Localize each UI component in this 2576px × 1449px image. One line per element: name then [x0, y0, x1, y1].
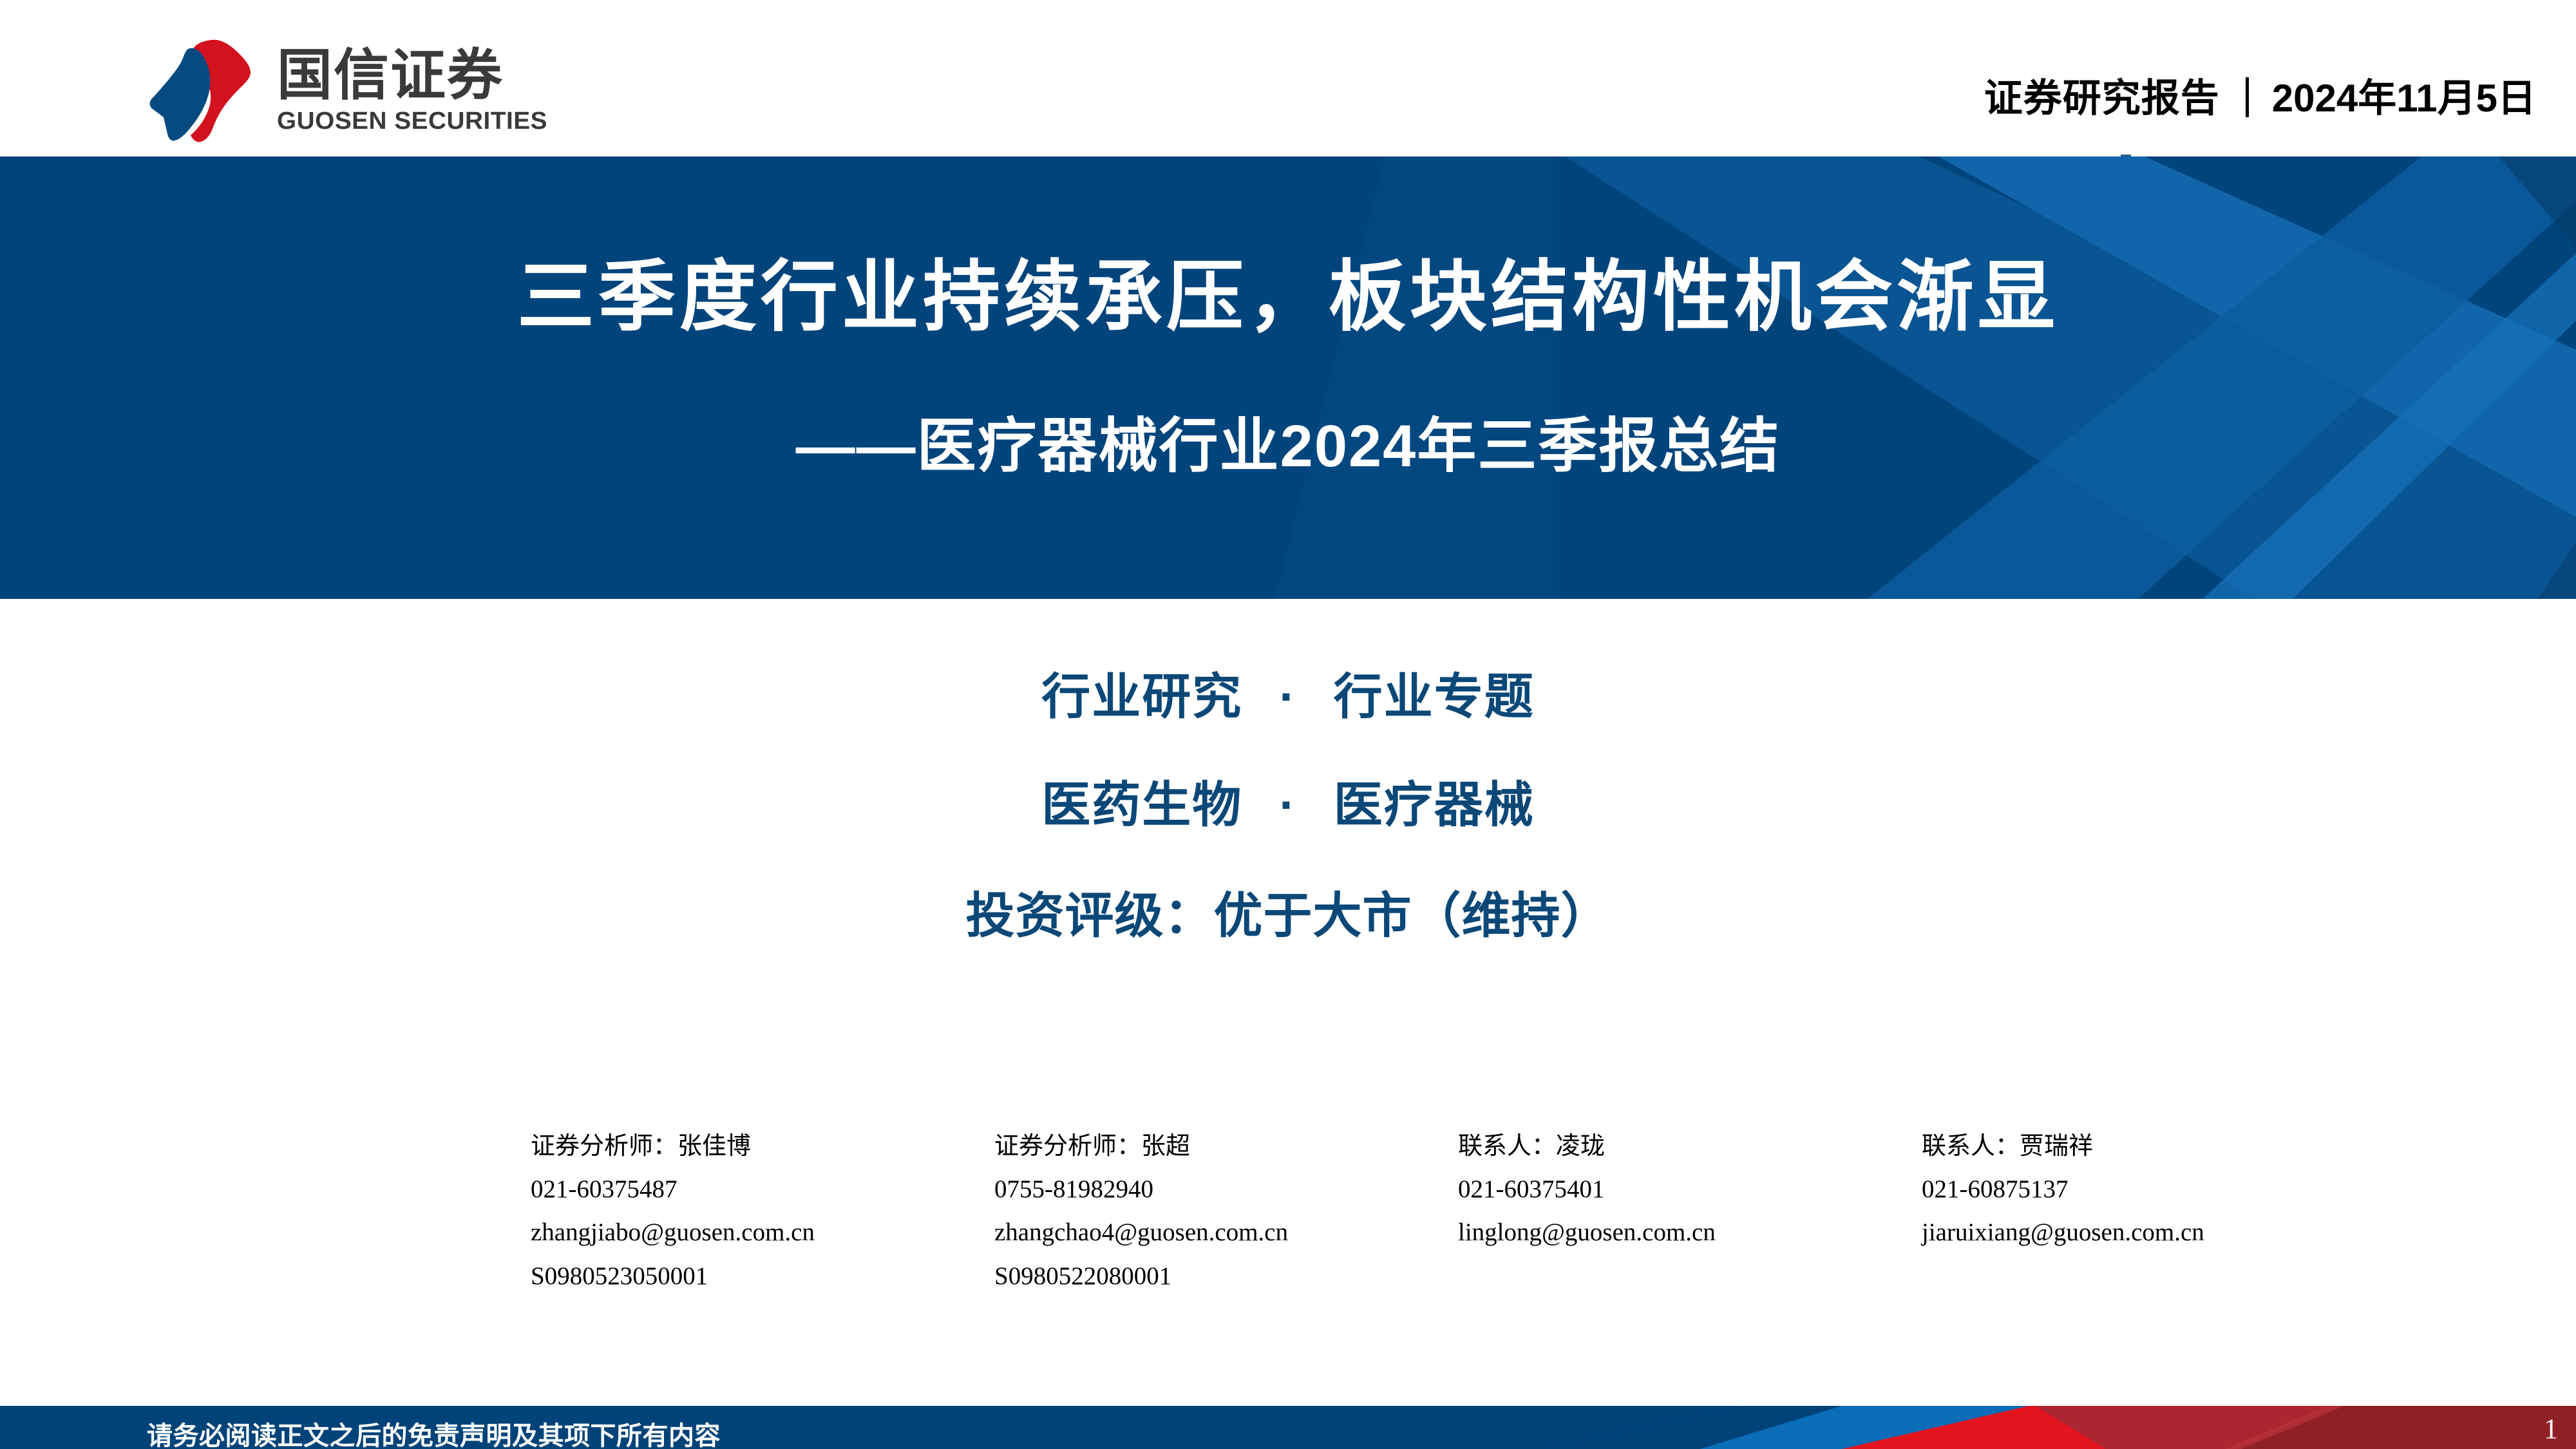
analyst-name: 联系人：贾瑞祥: [1922, 1126, 2385, 1168]
report-cover-page: 国信证券 GUOSEN SECURITIES 证券研究报告 2024年11月5日: [0, 0, 2576, 1449]
analyst-contact-block: 证券分析师：张超 0755-81982940 zhangchao4@guosen…: [994, 1126, 1458, 1298]
guosen-diamond-logo-icon: [149, 37, 255, 146]
investment-rating-line: 投资评级：优于大市（维持）: [0, 876, 2576, 947]
page-number: 1: [2544, 1412, 2558, 1445]
analyst-name: 联系人：凌珑: [1458, 1126, 1922, 1168]
category-dot-separator-2: ·: [1279, 777, 1296, 833]
analyst-license-number: S0980523050001: [531, 1255, 994, 1298]
analyst-email[interactable]: zhangchao4@guosen.com.cn: [994, 1211, 1458, 1254]
page-footer: 请务必阅读正文之后的免责声明及其项下所有内容 1: [0, 1406, 2576, 1449]
industry-subsector-label: 医疗器械: [1334, 778, 1535, 833]
analyst-phone: 0755-81982940: [994, 1168, 1458, 1211]
analyst-email[interactable]: zhangjiabo@guosen.com.cn: [531, 1211, 994, 1254]
report-classification-block: 行业研究 · 行业专题 医药生物 · 医疗器械 投资评级：优于大市（维持）: [0, 657, 2576, 947]
title-banner: 三季度行业持续承压，板块结构性机会渐显 ——医疗器械行业2024年三季报总结: [0, 156, 2576, 599]
industry-sector-label: 医药生物: [1041, 778, 1242, 833]
analyst-name: 证券分析师：张佳博: [531, 1126, 994, 1168]
brand-name-cn: 国信证券: [277, 48, 504, 104]
brand-name-en: GUOSEN SECURITIES: [277, 108, 547, 135]
footer-disclaimer: 请务必阅读正文之后的免责声明及其项下所有内容: [147, 1415, 721, 1449]
analyst-contact-block: 证券分析师：张佳博 021-60375487 zhangjiabo@guosen…: [531, 1126, 994, 1298]
report-subtitle: ——医疗器械行业2024年三季报总结: [0, 414, 2576, 479]
report-main-title: 三季度行业持续承压，板块结构性机会渐显: [0, 254, 2576, 339]
research-type-label: 行业研究: [1041, 670, 1242, 724]
analyst-phone: 021-60375487: [531, 1168, 994, 1211]
research-topic-label: 行业专题: [1334, 670, 1535, 724]
page-header: 国信证券 GUOSEN SECURITIES 证券研究报告 2024年11月5日: [0, 0, 2576, 156]
research-category-line: 行业研究 · 行业专题: [0, 657, 2576, 728]
analyst-name: 证券分析师：张超: [994, 1126, 1458, 1168]
analyst-license-number: S0980522080001: [994, 1255, 1458, 1298]
brand-logo-text: 国信证券 GUOSEN SECURITIES: [277, 48, 542, 136]
analyst-email[interactable]: jiaruixiang@guosen.com.cn: [1922, 1211, 2385, 1254]
category-dot-separator-1: ·: [1279, 669, 1296, 725]
analyst-contact-block: 联系人：凌珑 021-60375401 linglong@guosen.com.…: [1458, 1126, 1922, 1255]
analyst-phone: 021-60875137: [1922, 1168, 2385, 1211]
industry-category-line: 医药生物 · 医疗器械: [0, 765, 2576, 836]
brand-logo: 国信证券 GUOSEN SECURITIES: [149, 37, 542, 146]
analyst-contact-block: 联系人：贾瑞祥 021-60875137 jiaruixiang@guosen.…: [1922, 1126, 2385, 1255]
report-kind-label: 证券研究报告: [1984, 67, 2220, 123]
header-report-meta: 证券研究报告 2024年11月5日: [1984, 67, 2536, 123]
banner-geometric-decoration: [0, 156, 2576, 599]
analyst-contacts: 证券分析师：张佳博 021-60375487 zhangjiabo@guosen…: [531, 1126, 2360, 1298]
report-date: 2024年11月5日: [2272, 67, 2536, 123]
analyst-phone: 021-60375401: [1458, 1168, 1922, 1211]
header-divider: [2246, 77, 2249, 117]
analyst-email[interactable]: linglong@guosen.com.cn: [1458, 1211, 1922, 1254]
